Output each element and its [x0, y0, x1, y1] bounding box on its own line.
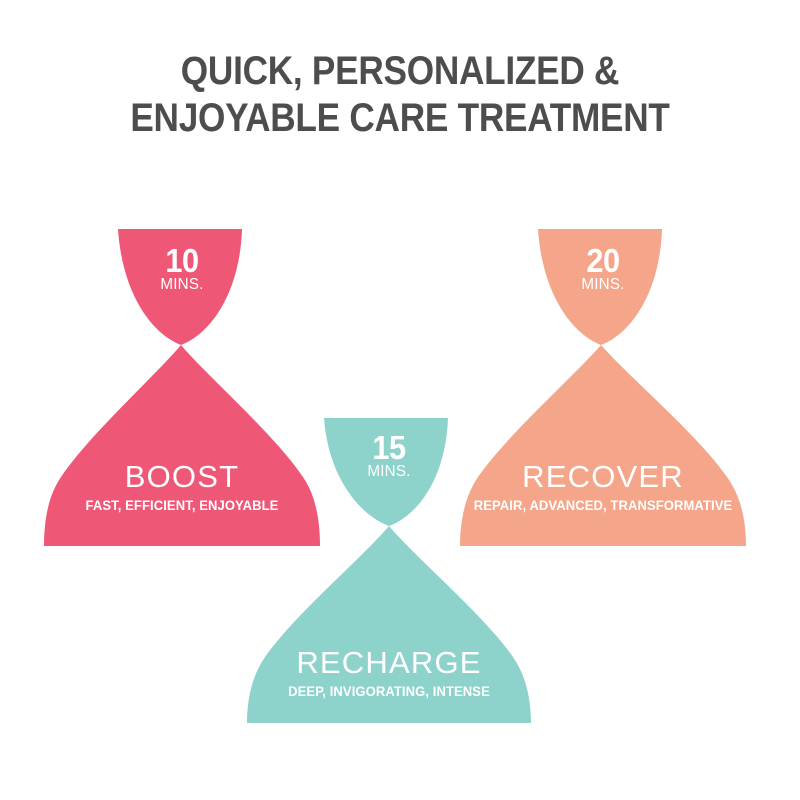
- infographic-canvas: QUICK, PERSONALIZED & ENJOYABLE CARE TRE…: [0, 0, 800, 800]
- page-title: QUICK, PERSONALIZED & ENJOYABLE CARE TRE…: [0, 48, 800, 142]
- dome-bottom-recover: [460, 345, 746, 546]
- page-title-line-2: ENJOYABLE CARE TREATMENT: [48, 95, 752, 142]
- funnel-top-boost: [118, 229, 242, 345]
- hourglass-shape-recover: [460, 229, 746, 546]
- dome-bottom-recharge: [247, 526, 531, 723]
- treatment-card-recover[interactable]: 20 MINS. RECOVER REPAIR, ADVANCED, TRANS…: [460, 229, 746, 546]
- page-title-line-1: QUICK, PERSONALIZED &: [48, 48, 752, 95]
- funnel-top-recharge: [324, 418, 448, 526]
- funnel-top-recover: [538, 229, 662, 345]
